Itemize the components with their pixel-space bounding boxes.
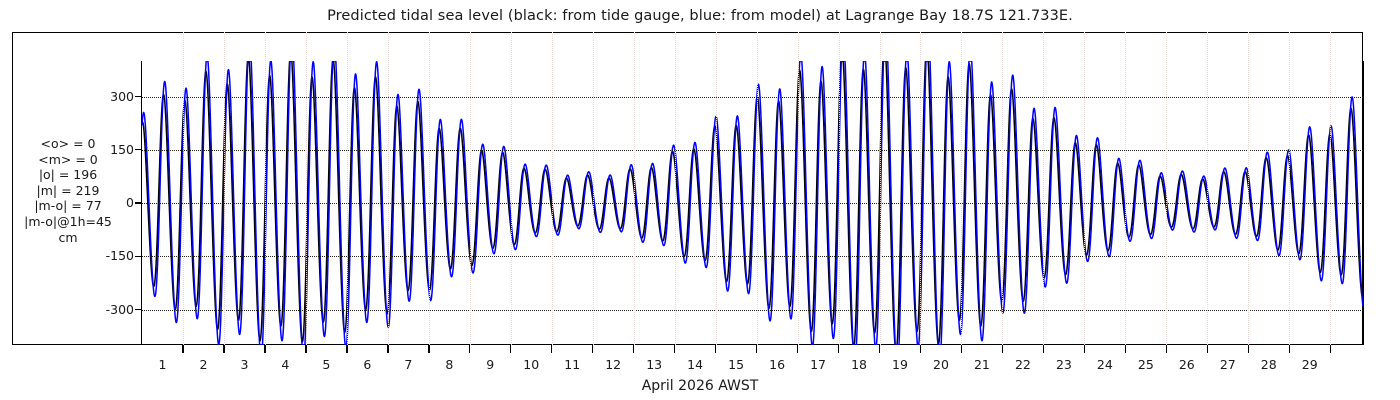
x-gridline xyxy=(1248,32,1249,345)
plot-area: 3001500-150-3001234567891011121314151617… xyxy=(142,61,1363,345)
x-axis-label: 22 xyxy=(1003,357,1043,372)
x-axis-title: April 2026 AWST xyxy=(0,378,1400,394)
x-axis-label: 17 xyxy=(798,357,838,372)
x-axis-tick xyxy=(264,345,265,353)
x-axis-label: 26 xyxy=(1167,357,1207,372)
y-axis-tick xyxy=(135,202,142,203)
x-axis-tick xyxy=(428,345,429,353)
x-gridline xyxy=(470,32,471,345)
x-gridline xyxy=(265,32,266,345)
x-axis-tick xyxy=(387,345,388,353)
y-axis-spine-right xyxy=(1363,61,1364,345)
x-axis-tick xyxy=(674,345,675,353)
x-gridline xyxy=(183,32,184,345)
x-axis-label: 9 xyxy=(470,357,510,372)
x-axis-label: 23 xyxy=(1044,357,1084,372)
x-axis-tick xyxy=(1125,345,1126,353)
y-axis-label: 0 xyxy=(126,195,134,210)
x-gridline xyxy=(1289,32,1290,345)
y-axis-label: -150 xyxy=(106,248,134,263)
x-axis-label: 12 xyxy=(593,357,633,372)
statistic-line-2: |o| = 196 xyxy=(8,167,128,183)
y-gridline xyxy=(142,203,1363,204)
x-axis-tick xyxy=(797,345,798,353)
tidal-chart-figure: Predicted tidal sea level (black: from t… xyxy=(0,0,1400,400)
x-gridline xyxy=(757,32,758,345)
statistic-line-6: cm xyxy=(8,230,128,246)
x-gridline xyxy=(798,32,799,345)
y-axis-tick xyxy=(135,96,142,97)
x-gridline xyxy=(429,32,430,345)
x-gridline xyxy=(716,32,717,345)
page-title: Predicted tidal sea level (black: from t… xyxy=(0,8,1400,24)
y-axis-tick xyxy=(135,256,142,257)
x-gridline xyxy=(552,32,553,345)
y-axis-tick xyxy=(135,149,142,150)
x-axis-label: 8 xyxy=(429,357,469,372)
x-axis-tick xyxy=(1248,345,1249,353)
x-axis-tick xyxy=(961,345,962,353)
x-axis-label: 13 xyxy=(634,357,674,372)
x-axis-label: 2 xyxy=(183,357,223,372)
x-gridline xyxy=(1043,32,1044,345)
x-axis-label: 25 xyxy=(1126,357,1166,372)
x-gridline xyxy=(839,32,840,345)
y-axis-label: -300 xyxy=(106,302,134,317)
x-gridline xyxy=(224,32,225,345)
x-axis-label: 20 xyxy=(921,357,961,372)
statistic-line-5: |m-o|@1h=45 xyxy=(8,214,128,230)
y-gridline xyxy=(142,310,1363,311)
x-gridline xyxy=(388,32,389,345)
y-axis-tick xyxy=(135,309,142,310)
x-axis-label: 10 xyxy=(511,357,551,372)
x-axis-label: 5 xyxy=(306,357,346,372)
x-gridline xyxy=(1002,32,1003,345)
x-axis-label: 19 xyxy=(880,357,920,372)
y-axis-label: 150 xyxy=(110,142,134,157)
x-axis-tick xyxy=(592,345,593,353)
x-axis-tick xyxy=(1043,345,1044,353)
x-gridline xyxy=(675,32,676,345)
x-gridline xyxy=(1084,32,1085,345)
x-axis-label: 3 xyxy=(224,357,264,372)
x-axis-label: 14 xyxy=(675,357,715,372)
x-gridline xyxy=(306,32,307,345)
y-axis-label: 300 xyxy=(110,89,134,104)
x-axis-tick xyxy=(346,345,347,353)
x-axis-tick xyxy=(1084,345,1085,353)
x-axis-tick xyxy=(1166,345,1167,353)
x-axis-label: 27 xyxy=(1208,357,1248,372)
x-axis-label: 7 xyxy=(388,357,428,372)
x-gridline xyxy=(1166,32,1167,345)
x-axis-tick xyxy=(305,345,306,353)
x-axis-tick xyxy=(1207,345,1208,353)
x-axis-tick xyxy=(182,345,183,353)
x-axis-tick xyxy=(1002,345,1003,353)
x-axis-tick xyxy=(756,345,757,353)
y-gridline xyxy=(142,256,1363,257)
x-gridline xyxy=(920,32,921,345)
x-axis-label: 16 xyxy=(757,357,797,372)
x-axis-label: 21 xyxy=(962,357,1002,372)
x-axis-tick xyxy=(510,345,511,353)
x-axis-label: 15 xyxy=(716,357,756,372)
x-axis-tick xyxy=(920,345,921,353)
x-axis-tick xyxy=(715,345,716,353)
x-gridline xyxy=(1207,32,1208,345)
x-axis-tick xyxy=(838,345,839,353)
x-axis-label: 4 xyxy=(265,357,305,372)
x-axis-label: 29 xyxy=(1290,357,1330,372)
x-gridline xyxy=(961,32,962,345)
x-axis-tick xyxy=(879,345,880,353)
x-axis-label: 24 xyxy=(1085,357,1125,372)
y-gridline xyxy=(142,150,1363,151)
x-gridline xyxy=(1125,32,1126,345)
x-axis-tick xyxy=(469,345,470,353)
x-gridline xyxy=(634,32,635,345)
x-axis-label: 1 xyxy=(142,357,182,372)
x-axis-label: 6 xyxy=(347,357,387,372)
x-axis-label: 18 xyxy=(839,357,879,372)
x-axis-label: 11 xyxy=(552,357,592,372)
x-axis-label: 28 xyxy=(1249,357,1289,372)
x-axis-tick xyxy=(223,345,224,353)
x-gridline xyxy=(347,32,348,345)
y-gridline xyxy=(142,97,1363,98)
x-gridline xyxy=(511,32,512,345)
x-gridline xyxy=(593,32,594,345)
x-gridline xyxy=(880,32,881,345)
statistic-line-3: |m| = 219 xyxy=(8,183,128,199)
x-axis-tick xyxy=(633,345,634,353)
x-axis-tick xyxy=(1289,345,1290,353)
x-gridline xyxy=(1330,32,1331,345)
statistic-line-4: |m-o| = 77 xyxy=(8,198,128,214)
x-axis-tick xyxy=(1330,345,1331,353)
x-axis-tick xyxy=(551,345,552,353)
